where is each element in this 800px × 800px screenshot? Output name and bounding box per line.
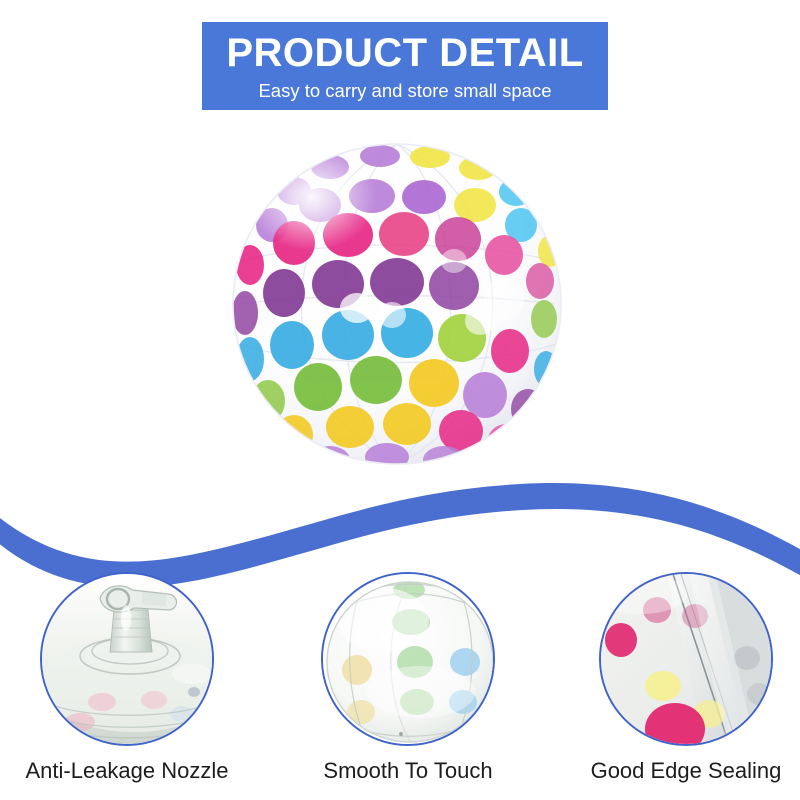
- smooth-surface-closeup-photo: [323, 574, 495, 746]
- edge-seam-closeup-photo: [601, 574, 773, 746]
- product-detail-page: PRODUCT DETAIL Easy to carry and store s…: [0, 0, 800, 800]
- beach-ball-illustration: [232, 143, 562, 465]
- header-banner: PRODUCT DETAIL Easy to carry and store s…: [202, 22, 608, 110]
- feature-item-smooth-to-touch[interactable]: Smooth To Touch: [278, 572, 538, 800]
- page-title: PRODUCT DETAIL: [226, 32, 583, 74]
- feature-item-anti-leakage-nozzle[interactable]: Anti-Leakage Nozzle: [0, 572, 257, 800]
- smooth-photo-circle: [321, 572, 495, 746]
- feature-item-good-edge-sealing[interactable]: Good Edge Sealing: [556, 572, 800, 800]
- feature-label-3: Good Edge Sealing: [556, 758, 800, 784]
- edge-sealing-photo-circle: [599, 572, 773, 746]
- hero-product-image: [232, 143, 562, 465]
- feature-row: Anti-Leakage Nozzle: [0, 572, 800, 800]
- nozzle-closeup-photo: [42, 574, 214, 746]
- page-subtitle: Easy to carry and store small space: [258, 81, 551, 101]
- feature-label-2: Smooth To Touch: [278, 758, 538, 784]
- nozzle-photo-circle: [40, 572, 214, 746]
- feature-label-1: Anti-Leakage Nozzle: [0, 758, 257, 784]
